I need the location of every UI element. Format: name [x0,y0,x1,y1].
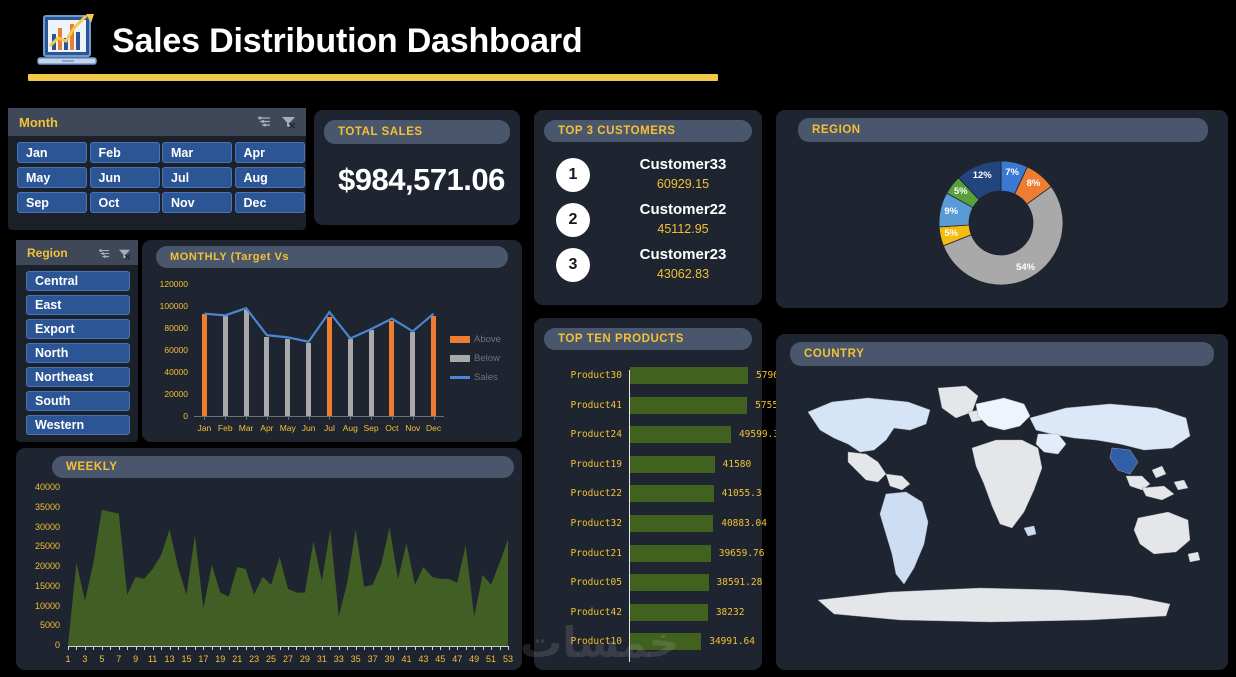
product-name: Product22 [544,488,622,499]
customer-name: Customer23 [608,246,758,263]
weekly-x-tick [339,646,340,650]
weekly-x-label: 21 [228,654,246,664]
top-customers-card: TOP 3 CUSTOMERS 1Customer3360929.152Cust… [534,110,762,305]
weekly-x-tick [178,646,179,650]
region-donut-header-label: REGION [798,124,861,136]
product-name: Product21 [544,548,622,559]
weekly-x-tick [296,646,297,650]
weekly-x-tick [390,646,391,650]
customer-rank-badge: 3 [556,248,590,282]
weekly-x-label: 19 [211,654,229,664]
weekly-x-tick [415,646,416,650]
monthly-x-tick [329,416,330,420]
weekly-x-tick [68,646,69,650]
monthly-bar-dec[interactable] [431,316,436,416]
customer-rank-badge: 1 [556,158,590,192]
weekly-x-label: 15 [177,654,195,664]
weekly-x-label: 39 [381,654,399,664]
monthly-legend-item[interactable]: Sales [450,368,516,387]
weekly-x-label: 11 [144,654,162,664]
weekly-x-tick [186,646,187,650]
weekly-x-label: 23 [245,654,263,664]
monthly-bar-jan[interactable] [202,314,207,416]
month-chip-dec[interactable]: Dec [235,192,305,213]
weekly-x-tick [144,646,145,650]
monthly-bar-feb[interactable] [223,316,228,416]
product-value: 39659.76 [719,548,765,559]
monthly-legend-item[interactable]: Above [450,330,516,349]
month-chip-apr[interactable]: Apr [235,142,305,163]
monthly-bar-apr[interactable] [264,337,269,416]
world-map[interactable] [790,378,1214,650]
month-chip-label: Jul [171,171,189,185]
weekly-x-tick [457,646,458,650]
region-donut-card: REGION 7%8%54%5%9%5%12% CentralEastExpor… [776,110,1228,308]
monthly-y-tick: 80000 [142,323,188,333]
product-value: 41580 [723,459,752,470]
monthly-bar-may[interactable] [285,339,290,416]
weekly-x-label: 31 [313,654,331,664]
region-slicer-header: Region [16,240,138,265]
monthly-bar-aug[interactable] [348,339,353,416]
region-chip-export[interactable]: Export [26,319,130,339]
weekly-x-tick [398,646,399,650]
weekly-x-tick [483,646,484,650]
monthly-bar-mar[interactable] [244,310,249,416]
monthly-chart-card: MONTHLY (Target Vs 020000400006000080000… [142,240,522,442]
dashboard-header: Sales Distribution Dashboard [0,0,740,96]
product-row: Product4157554.28 [534,394,762,423]
region-chip-label: Central [35,274,78,288]
product-bar[interactable] [630,456,715,473]
customer-name: Customer33 [608,156,758,173]
monthly-x-tick [350,416,351,420]
weekly-x-tick [220,646,221,650]
weekly-x-label: 27 [279,654,297,664]
product-value: 38232 [716,607,745,618]
title-underline [28,74,718,81]
region-slicer-title: Region [16,246,68,260]
product-row: Product2139659.76 [534,542,762,571]
monthly-x-tick [288,416,289,420]
product-name: Product32 [544,518,622,529]
top-customers-header: TOP 3 CUSTOMERS [544,120,752,142]
customer-rank-badge: 2 [556,203,590,237]
month-chip-label: Mar [171,146,193,160]
weekly-x-tick [161,646,162,650]
weekly-x-tick [119,646,120,650]
weekly-x-label: 43 [414,654,432,664]
customer-row: 3Customer2343062.83 [534,246,762,292]
month-chip-label: Sep [26,196,49,210]
weekly-x-label: 3 [76,654,94,664]
monthly-legend-swatch [450,376,470,379]
weekly-x-tick [263,646,264,650]
monthly-bar-sep[interactable] [369,330,374,416]
product-bar[interactable] [630,545,711,562]
product-name: Product19 [544,459,622,470]
product-value: 41055.3 [722,488,762,499]
region-chip-label: North [35,346,68,360]
monthly-chart-legend: AboveBelowSales [450,330,516,387]
weekly-x-tick [305,646,306,650]
monthly-legend-label: Sales [474,372,498,383]
customer-row: 2Customer2245112.95 [534,201,762,247]
monthly-chart-header: MONTHLY (Target Vs [156,246,508,268]
monthly-x-tick [267,416,268,420]
month-chip-may[interactable]: May [17,167,87,188]
weekly-x-tick [347,646,348,650]
weekly-x-tick [322,646,323,650]
monthly-y-tick: 0 [142,411,188,421]
product-row: Product1941580 [534,453,762,482]
weekly-x-tick [93,646,94,650]
monthly-y-tick: 20000 [142,389,188,399]
region-chip-label: Northeast [35,370,93,384]
product-name: Product30 [544,370,622,381]
weekly-chart-card: WEEKLY 050001000015000200002500030000350… [16,448,522,670]
month-chip-label: Feb [99,146,121,160]
donut-percent-label: 8% [1019,178,1049,189]
region-chip-south[interactable]: South [26,391,130,411]
weekly-x-tick [280,646,281,650]
product-name: Product42 [544,607,622,618]
weekly-x-label: 9 [127,654,145,664]
month-chip-feb[interactable]: Feb [90,142,160,163]
filter-list-icon[interactable] [98,247,111,259]
customer-value: 43062.83 [608,267,758,281]
product-name: Product24 [544,429,622,440]
weekly-x-label: 13 [161,654,179,664]
weekly-x-label: 53 [499,654,517,664]
month-chip-nov[interactable]: Nov [162,192,232,213]
month-chip-jan[interactable]: Jan [17,142,87,163]
monthly-y-tick: 120000 [142,279,188,289]
monthly-legend-label: Above [474,334,501,345]
weekly-x-label: 47 [448,654,466,664]
month-chip-label: Jun [99,171,121,185]
weekly-x-label: 51 [482,654,500,664]
product-row: Product3057968.64 [534,364,762,393]
weekly-x-tick [432,646,433,650]
dashboard-page: Sales Distribution Dashboard Month [0,0,1236,677]
product-value: 40883.04 [721,518,767,529]
customer-name: Customer22 [608,201,758,218]
weekly-x-tick [491,646,492,650]
clear-filter-icon[interactable] [281,115,296,129]
weekly-x-tick [237,646,238,650]
weekly-x-tick [474,646,475,650]
weekly-area-svg[interactable] [16,448,522,670]
weekly-x-tick [356,646,357,650]
total-sales-header: TOTAL SALES [324,120,510,144]
product-name: Product41 [544,400,622,411]
monthly-x-label: Dec [421,423,447,433]
product-row: Product0538591.28 [534,571,762,600]
weekly-x-label: 25 [262,654,280,664]
product-bar[interactable] [630,397,747,414]
month-chip-label: Nov [171,196,195,210]
weekly-x-tick [381,646,382,650]
weekly-x-tick [212,646,213,650]
product-bar[interactable] [630,574,709,591]
donut-percent-label: 7% [997,167,1027,178]
weekly-x-tick [136,646,137,650]
weekly-x-label: 17 [194,654,212,664]
month-chip-aug[interactable]: Aug [235,167,305,188]
donut-percent-label: 5% [936,228,966,239]
monthly-bar-jun[interactable] [306,343,311,416]
weekly-x-tick [246,646,247,650]
product-row: Product2241055.3 [534,482,762,511]
weekly-x-label: 1 [59,654,77,664]
monthly-x-tick [204,416,205,420]
weekly-x-tick [373,646,374,650]
country-map-card: COUNTRY [776,334,1228,670]
product-bar[interactable] [630,367,748,384]
month-slicer-title: Month [8,115,58,130]
weekly-x-label: 5 [93,654,111,664]
region-donut-chart: 7%8%54%5%9%5%12% [926,148,1076,298]
month-chip-label: Aug [244,171,268,185]
product-row: Product1034991.64 [534,630,762,659]
region-chip-central[interactable]: Central [26,271,130,291]
weekly-x-tick [229,646,230,650]
product-bar[interactable] [630,426,731,443]
product-value: 34991.64 [709,636,755,647]
country-map-header-label: COUNTRY [790,348,864,360]
region-slicer: Region CentralEas [16,240,138,442]
monthly-x-axis [194,416,444,417]
donut-percent-label: 12% [967,170,997,181]
month-chip-label: Apr [244,146,266,160]
weekly-x-tick [170,646,171,650]
product-name: Product10 [544,636,622,647]
monthly-x-tick [413,416,414,420]
region-chip-label: Export [35,322,75,336]
weekly-x-tick [330,646,331,650]
monthly-bar-oct[interactable] [389,321,394,416]
monthly-x-tick [434,416,435,420]
region-chip-label: Western [35,418,84,432]
monthly-y-tick: 40000 [142,367,188,377]
monthly-x-tick [309,416,310,420]
customer-value: 45112.95 [608,222,758,236]
weekly-x-tick [102,646,103,650]
weekly-x-tick [153,646,154,650]
weekly-x-tick [423,646,424,650]
weekly-x-label: 45 [431,654,449,664]
weekly-x-tick [110,646,111,650]
monthly-y-tick: 100000 [142,301,188,311]
weekly-x-label: 7 [110,654,128,664]
monthly-x-tick [225,416,226,420]
weekly-x-tick [76,646,77,650]
total-sales-value: $984,571.06 [338,162,505,198]
month-chip-oct[interactable]: Oct [90,192,160,213]
region-chip-label: South [35,394,70,408]
customer-value: 60929.15 [608,177,758,191]
monthly-legend-swatch [450,336,470,343]
monthly-chart-header-label: MONTHLY (Target Vs [156,251,289,263]
month-chip-label: Dec [244,196,267,210]
region-chip-north[interactable]: North [26,343,130,363]
region-chip-northeast[interactable]: Northeast [26,367,130,387]
month-chip-sep[interactable]: Sep [17,192,87,213]
region-chip-label: East [35,298,61,312]
month-chip-label: May [26,171,50,185]
month-slicer: Month JanFebMarAp [8,108,306,230]
donut-percent-label: 54% [1011,262,1041,273]
product-row: Product2449599.36 [534,423,762,452]
month-chip-mar[interactable]: Mar [162,142,232,163]
bar-chart-laptop-icon [36,12,102,74]
top-products-header: TOP TEN PRODUCTS [544,328,752,350]
weekly-x-tick [466,646,467,650]
weekly-x-tick [449,646,450,650]
month-chip-label: Oct [99,196,120,210]
monthly-bar-nov[interactable] [410,332,415,416]
product-bar[interactable] [630,485,714,502]
customer-row: 1Customer3360929.15 [534,156,762,202]
weekly-x-tick [271,646,272,650]
top-products-header-label: TOP TEN PRODUCTS [544,333,684,345]
monthly-x-tick [246,416,247,420]
weekly-x-tick [313,646,314,650]
monthly-legend-item[interactable]: Below [450,349,516,368]
product-value: 38591.28 [717,577,763,588]
donut-percent-label: 5% [946,186,976,197]
product-row: Product3240883.04 [534,512,762,541]
country-map-header: COUNTRY [790,342,1214,366]
month-chip-jul[interactable]: Jul [162,167,232,188]
top-products-card: TOP TEN PRODUCTS Product3057968.64Produc… [534,318,762,670]
weekly-x-tick [508,646,509,650]
product-name: Product05 [544,577,622,588]
monthly-x-tick [371,416,372,420]
month-chip-jun[interactable]: Jun [90,167,160,188]
monthly-legend-label: Below [474,353,500,364]
weekly-x-tick [195,646,196,650]
monthly-bar-jul[interactable] [327,317,332,416]
region-chip-western[interactable]: Western [26,415,130,435]
weekly-x-label: 33 [330,654,348,664]
product-row: Product4238232 [534,601,762,630]
page-title: Sales Distribution Dashboard [112,22,582,61]
product-bar[interactable] [630,604,708,621]
monthly-legend-swatch [450,355,470,362]
top-customers-header-label: TOP 3 CUSTOMERS [544,125,676,137]
region-chip-east[interactable]: East [26,295,130,315]
weekly-x-tick [85,646,86,650]
weekly-x-tick [364,646,365,650]
product-bar[interactable] [630,633,701,650]
weekly-x-tick [254,646,255,650]
weekly-x-label: 49 [465,654,483,664]
region-donut-header: REGION [798,118,1208,142]
total-sales-header-label: TOTAL SALES [324,126,423,138]
filter-list-icon[interactable] [257,115,272,129]
month-chip-label: Jan [26,146,48,160]
weekly-x-tick [406,646,407,650]
weekly-x-tick [203,646,204,650]
month-slicer-header: Month [8,108,306,136]
weekly-x-label: 29 [296,654,314,664]
monthly-x-tick [392,416,393,420]
clear-filter-icon[interactable] [118,247,131,259]
product-bar[interactable] [630,515,713,532]
weekly-x-tick [440,646,441,650]
monthly-y-tick: 60000 [142,345,188,355]
weekly-x-label: 37 [364,654,382,664]
weekly-x-label: 35 [347,654,365,664]
weekly-x-tick [288,646,289,650]
weekly-x-label: 41 [397,654,415,664]
weekly-x-tick [127,646,128,650]
total-sales-card: TOTAL SALES $984,571.06 [314,110,520,225]
donut-percent-label: 9% [936,206,966,217]
weekly-x-tick [500,646,501,650]
